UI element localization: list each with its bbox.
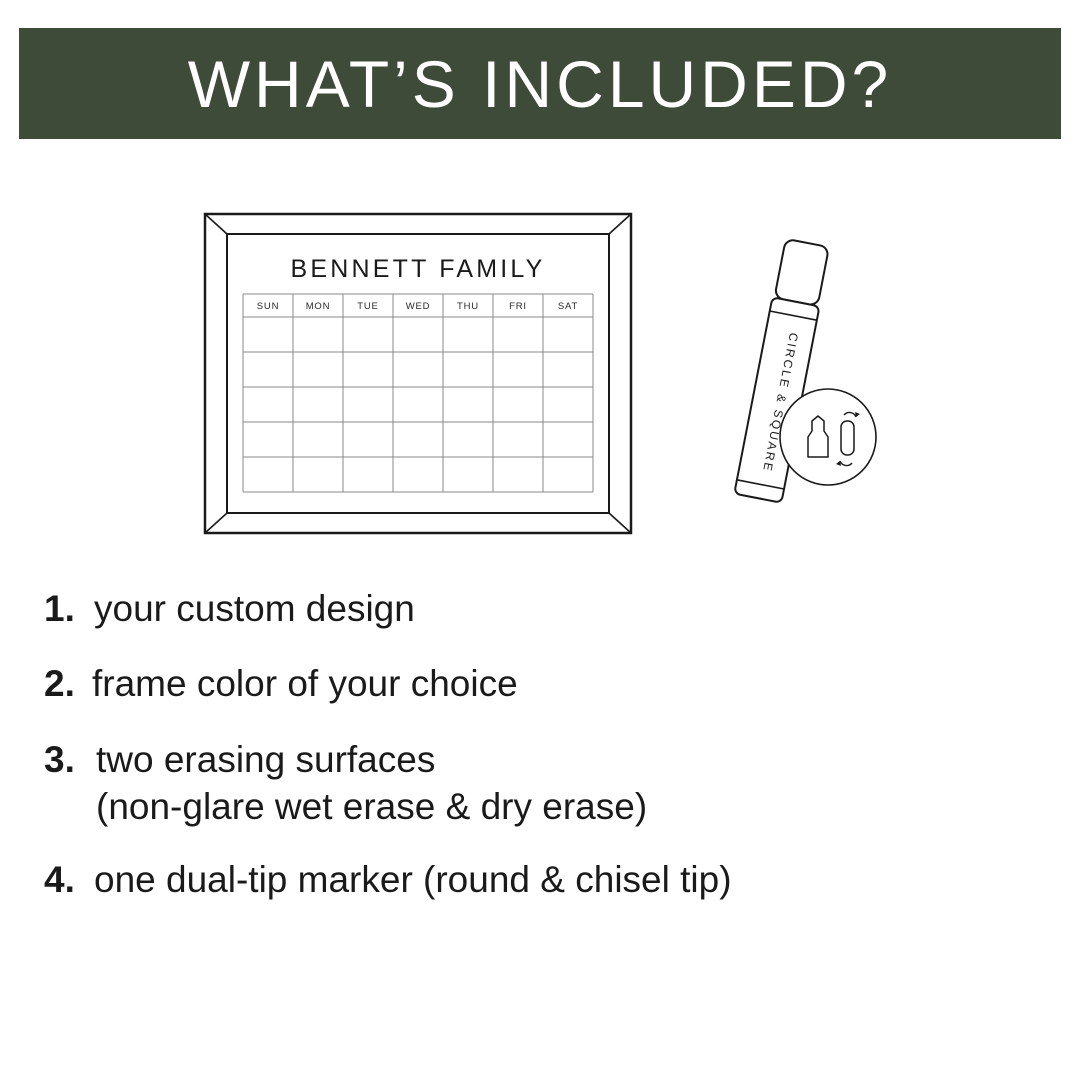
included-items-list: 1. your custom design 2. frame color of … [0,585,1080,932]
list-item-text: frame color of your choice [90,660,518,707]
header-banner: WHAT’S INCLUDED? [19,28,1061,139]
list-item: 4. one dual-tip marker (round & chisel t… [0,856,1080,903]
marker-svg: CIRCLE & SQUARE [700,225,900,525]
round-tip-icon [841,421,854,455]
product-illustration: BENNETT FAMILY SUN MON TUE WED THU FRI S… [0,170,1080,570]
list-item-number: 4. [44,856,90,903]
calendar-title: BENNETT FAMILY [290,255,545,283]
list-item-number: 2. [44,660,90,707]
list-item-number: 3. [44,736,90,783]
marker-tip-detail-icon [780,389,876,485]
list-item-text: two erasing surfaces (non-glare wet eras… [90,736,647,831]
list-item: 1. your custom design [0,585,1080,632]
svg-text:TUE: TUE [357,301,378,312]
svg-text:SUN: SUN [257,301,279,312]
svg-text:SAT: SAT [558,301,578,312]
svg-text:FRI: FRI [509,301,527,312]
list-item-text: one dual-tip marker (round & chisel tip) [90,856,732,903]
list-item-text: your custom design [90,585,415,632]
list-item: 3. two erasing surfaces (non-glare wet e… [0,736,1080,831]
calendar-board-svg: BENNETT FAMILY SUN MON TUE WED THU FRI S… [203,212,633,535]
svg-text:MON: MON [306,301,331,312]
marker-illustration: CIRCLE & SQUARE [700,225,900,525]
page-title: WHAT’S INCLUDED? [188,51,893,117]
list-item-number: 1. [44,585,90,632]
list-item: 2. frame color of your choice [0,660,1080,707]
svg-text:WED: WED [406,301,431,312]
svg-text:THU: THU [457,301,479,312]
calendar-board-illustration: BENNETT FAMILY SUN MON TUE WED THU FRI S… [203,212,633,535]
